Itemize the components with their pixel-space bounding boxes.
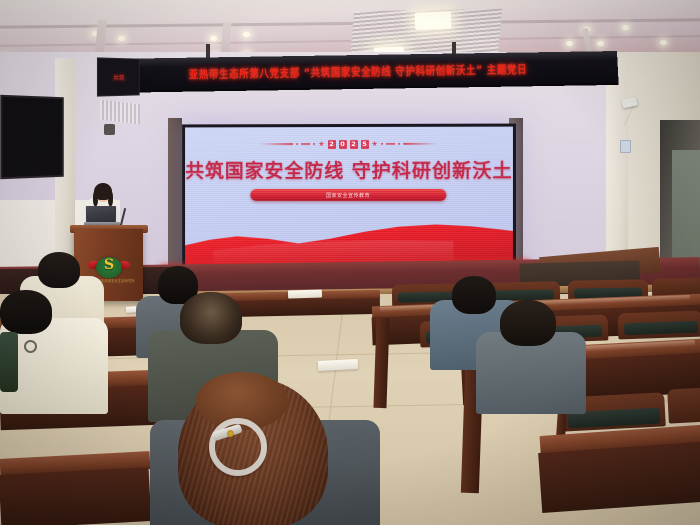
decor-dot [398, 143, 400, 145]
attendee-head [180, 292, 242, 344]
ceiling-downlight [243, 32, 250, 37]
conference-hall-photo: 亚热带生态所第八党支部 “共筑国家安全防线 守护科研创新沃土” 主题党日 共筑 … [0, 0, 700, 525]
ceiling-speaker [104, 124, 115, 135]
year-decoration-row: ★ 2 0 2 5 ★ [185, 139, 513, 150]
screen-frame-left [168, 118, 182, 268]
presentation-subtitle-text: 国家安全宣传教育 [326, 191, 370, 198]
attendee-logo-print [24, 340, 37, 353]
ceiling-downlight [597, 41, 604, 46]
banner-bracket [206, 44, 210, 58]
side-monitor [0, 95, 64, 180]
decor-dot [381, 143, 383, 145]
ceiling-panel-light [415, 11, 452, 29]
presenter-hair-top [94, 183, 112, 200]
star-icon: ★ [372, 140, 378, 147]
star-icon: ★ [318, 141, 324, 148]
ceiling-downlight [622, 25, 629, 30]
decor-dot [313, 143, 315, 145]
decor-line [403, 143, 437, 145]
presenter-laptop-screen [86, 206, 116, 223]
decor-dash [386, 143, 395, 145]
presentation-subtitle-bar: 国家安全宣传教育 [250, 189, 446, 201]
ceiling-downlight [210, 36, 217, 41]
papers-on-desk [318, 359, 358, 371]
year-digit: 2 [349, 139, 357, 148]
hair-clip-ornament [227, 430, 234, 437]
doorway-interior [672, 150, 700, 270]
attendee-head [38, 252, 80, 288]
year-digit: 2 [328, 140, 336, 149]
decor-dot [296, 143, 298, 145]
chair-back[interactable] [667, 386, 700, 423]
main-led-presentation-screen: ★ 2 0 2 5 ★ 共筑国家安全防线 守护科研创新沃土 国家安全宣传教育 [182, 124, 516, 269]
chair-seat-pad [624, 321, 698, 336]
year-digit: 0 [339, 140, 347, 149]
papers-on-desk [288, 289, 322, 298]
attendee-head [500, 300, 556, 346]
emblem-letter: S [104, 257, 114, 273]
desk-left-foreground-front [0, 467, 151, 525]
desk-row-foreground-front [538, 441, 700, 513]
decor-line [260, 143, 294, 145]
presentation-title: 共筑国家安全防线 守护科研创新沃土 [185, 156, 513, 183]
attendee-head [0, 290, 52, 334]
wall-outlet-plate [620, 140, 631, 153]
ceiling-downlight [118, 36, 125, 41]
wall-side-display: 共筑 [97, 57, 140, 96]
side-display-text: 共筑 [113, 72, 125, 81]
attendee-head [452, 276, 496, 314]
year-digit: 5 [361, 139, 369, 148]
ceiling-downlight [566, 41, 573, 46]
decor-dash [301, 143, 310, 145]
attendee-bag-strap [0, 332, 18, 392]
ceiling-downlight [660, 40, 667, 45]
